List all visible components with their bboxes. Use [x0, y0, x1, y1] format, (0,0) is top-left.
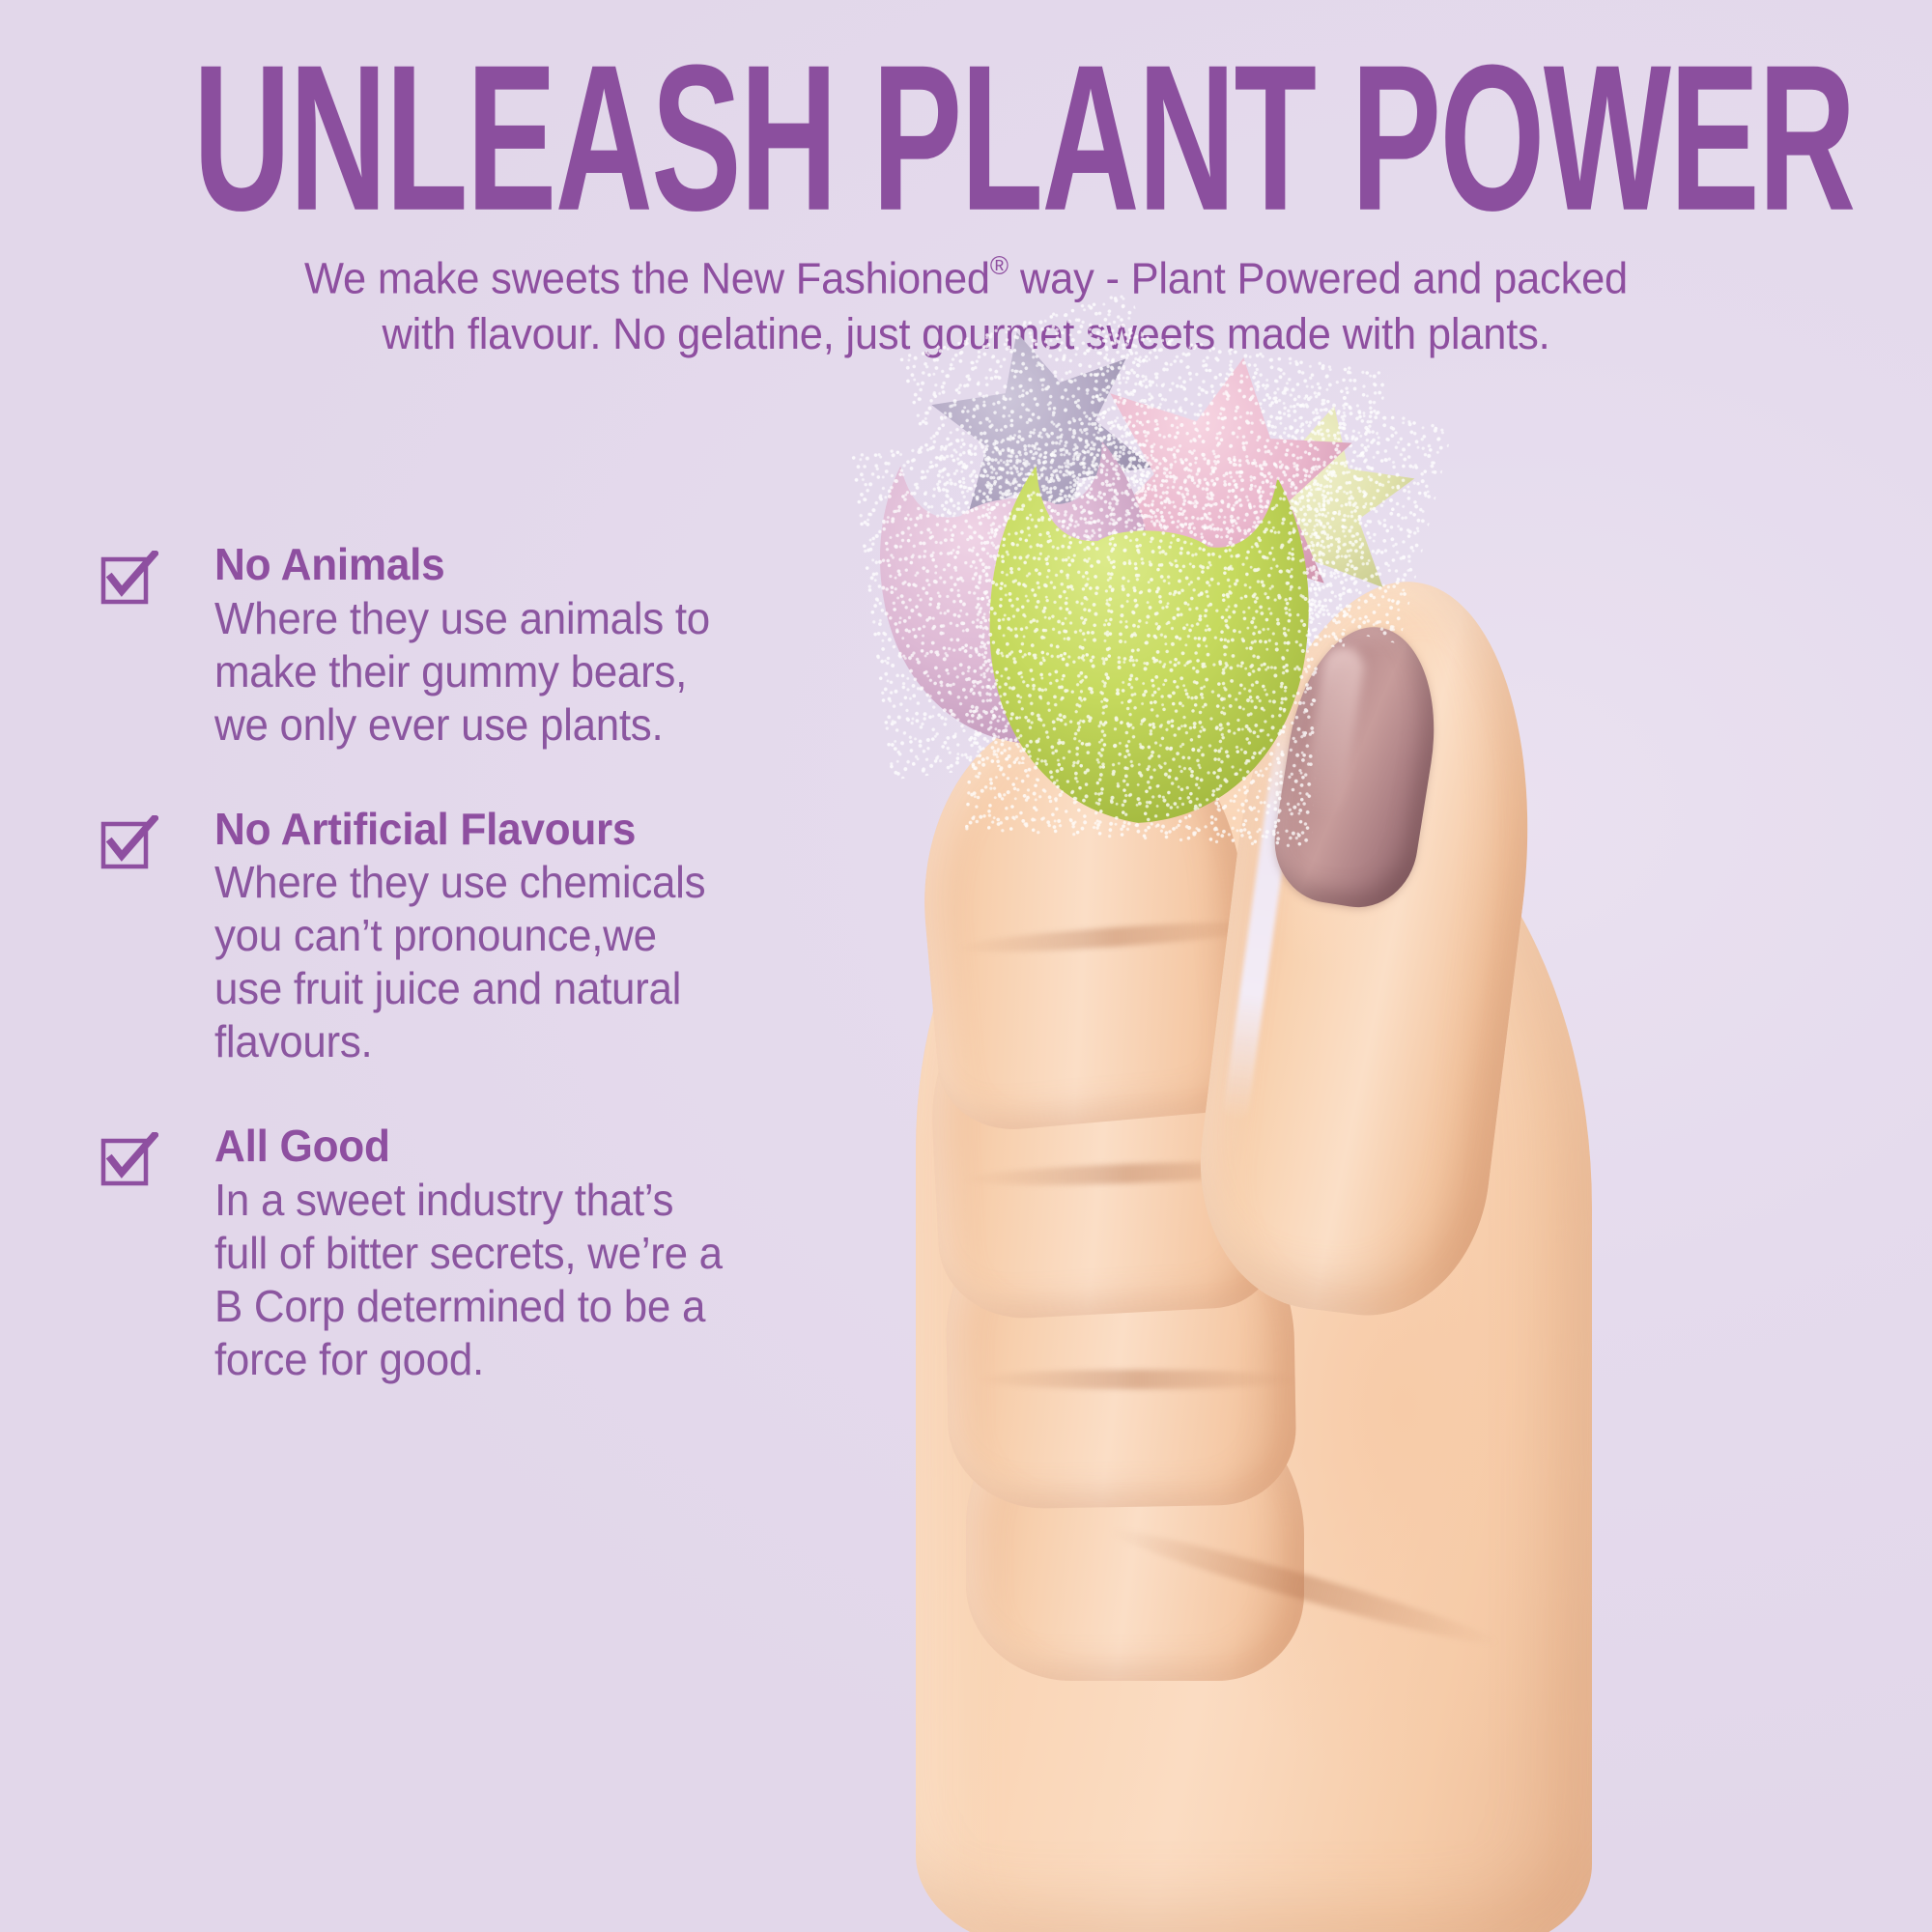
finger-crease — [978, 1370, 1296, 1389]
page-title: UNLEASH PLANT POWER — [193, 35, 1739, 242]
sweets-cluster — [811, 290, 1932, 1159]
checkbox-checked-icon — [100, 551, 155, 605]
lime-green-bear-sweet — [964, 445, 1331, 849]
poster-canvas: UNLEASH PLANT POWER We make sweets the N… — [0, 0, 1932, 1932]
checkbox-checked-icon — [100, 1132, 155, 1186]
registered-trademark-icon: ® — [990, 251, 1009, 280]
hand-holding-sweets-photo — [811, 290, 1932, 1932]
checkbox-checked-icon — [100, 815, 155, 869]
hand — [811, 290, 1932, 1932]
